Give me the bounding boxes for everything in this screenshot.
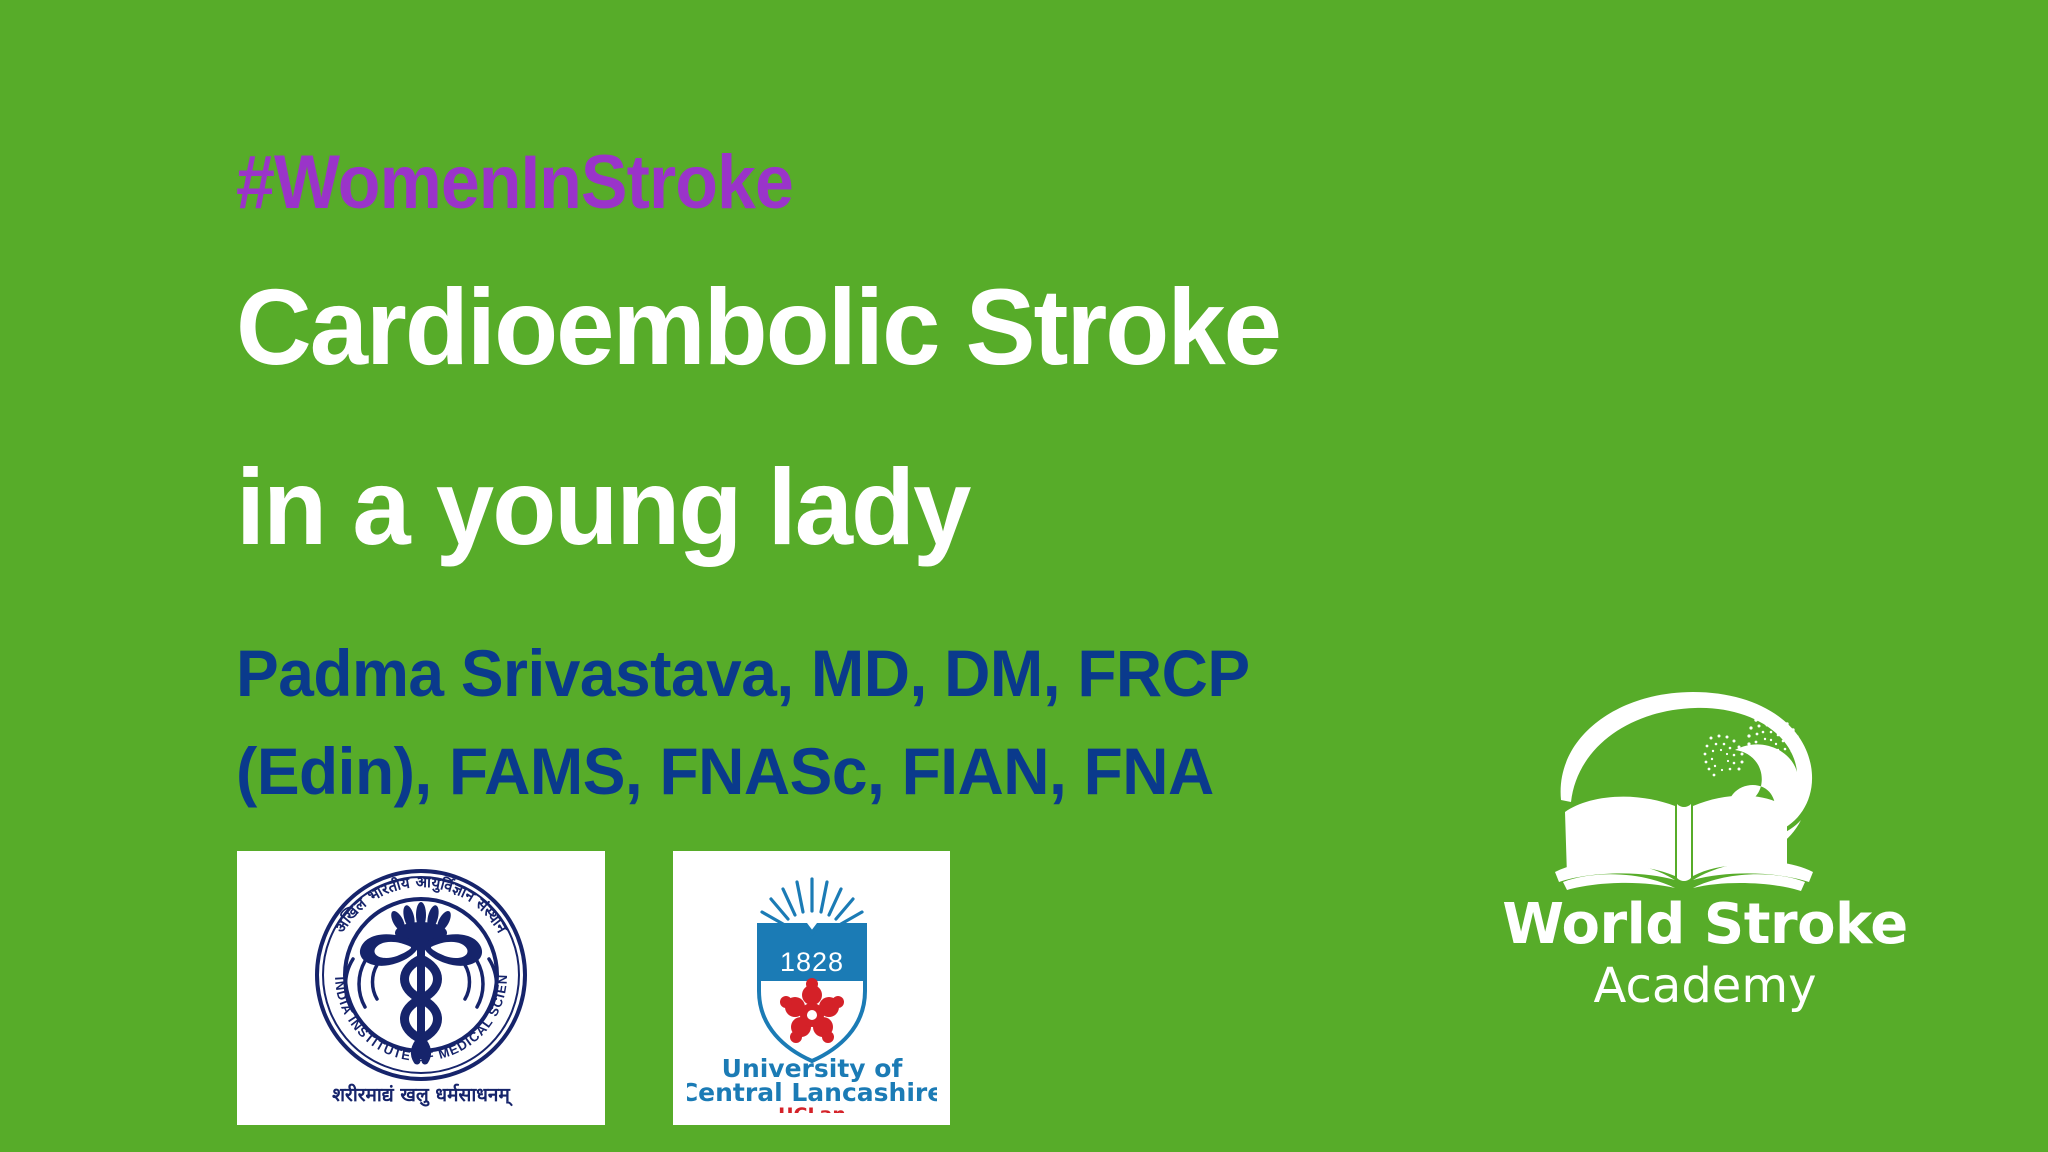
aiims-logo-inner: अखिल भारतीय आयुर्विज्ञान संस्थान ALL IND…	[237, 851, 605, 1125]
uclan-logo-plate: 1828	[673, 851, 950, 1125]
wsa-logo-line-2: Academy	[1495, 958, 1915, 1014]
wsa-brain-book-icon	[1525, 680, 1845, 900]
aiims-logo-plate: अखिल भारतीय आयुर्विज्ञान संस्थान ALL IND…	[237, 851, 605, 1125]
uclan-name-line-2: Central Lancashire	[687, 1078, 937, 1107]
slide-title-line-1: Cardioembolic Stroke	[236, 268, 1280, 386]
presentation-slide: #WomenInStroke Cardioembolic Stroke in a…	[0, 0, 2048, 1152]
uclan-logo: 1828	[687, 863, 937, 1113]
aiims-logo: अखिल भारतीय आयुर्विज्ञान संस्थान ALL IND…	[271, 863, 571, 1113]
wsa-logo-line-1: World Stroke	[1495, 892, 1915, 957]
author-name-line: Padma Srivastava, MD, DM, FRCP	[236, 635, 1250, 711]
uclan-founded-year: 1828	[779, 947, 843, 977]
uclan-abbreviation: UCLan	[778, 1104, 846, 1113]
uclan-logo-inner: 1828	[673, 851, 950, 1125]
author-credentials-line: (Edin), FAMS, FNASc, FIAN, FNA	[236, 733, 1214, 809]
world-stroke-academy-logo: World Stroke Academy	[1495, 680, 1915, 1020]
aiims-motto-text: शरीरमाद्यं खलु धर्मसाधनम्	[332, 1083, 514, 1107]
uclan-rays-icon	[762, 879, 862, 924]
slide-title-line-2: in a young lady	[236, 448, 969, 566]
wsa-sunburst-small-icon	[1704, 735, 1744, 777]
hashtag-women-in-stroke: #WomenInStroke	[236, 142, 793, 224]
